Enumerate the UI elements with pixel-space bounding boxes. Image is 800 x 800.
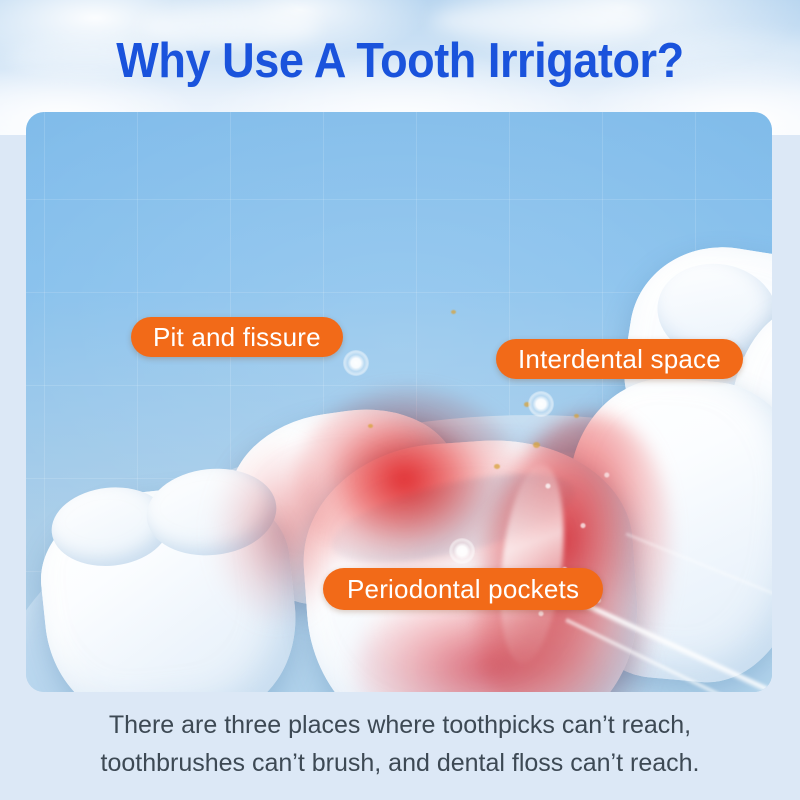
- page-title: Why Use A Tooth Irrigator?: [32, 33, 768, 89]
- plaque-speck: [574, 414, 579, 418]
- label-periodontal-pockets[interactable]: Periodontal pockets: [323, 568, 603, 610]
- plaque-speck: [451, 310, 456, 314]
- plaque-speck: [494, 464, 500, 469]
- infographic-page: Why Use A Tooth Irrigator?: [0, 0, 800, 800]
- marker-dot-periodontal: [449, 538, 475, 564]
- marker-dot-pit-fissure: [343, 350, 369, 376]
- plaque-speck: [368, 424, 373, 428]
- label-pit-and-fissure[interactable]: Pit and fissure: [131, 317, 343, 357]
- caption-line-2: toothbrushes can’t brush, and dental flo…: [0, 744, 800, 782]
- label-interdental-space[interactable]: Interdental space: [496, 339, 743, 379]
- water-spray-droplets: [506, 442, 646, 662]
- caption-line-1: There are three places where toothpicks …: [0, 706, 800, 744]
- marker-dot-interdental: [528, 391, 554, 417]
- caption-block: There are three places where toothpicks …: [0, 706, 800, 782]
- tooth-left-molar: [33, 478, 306, 692]
